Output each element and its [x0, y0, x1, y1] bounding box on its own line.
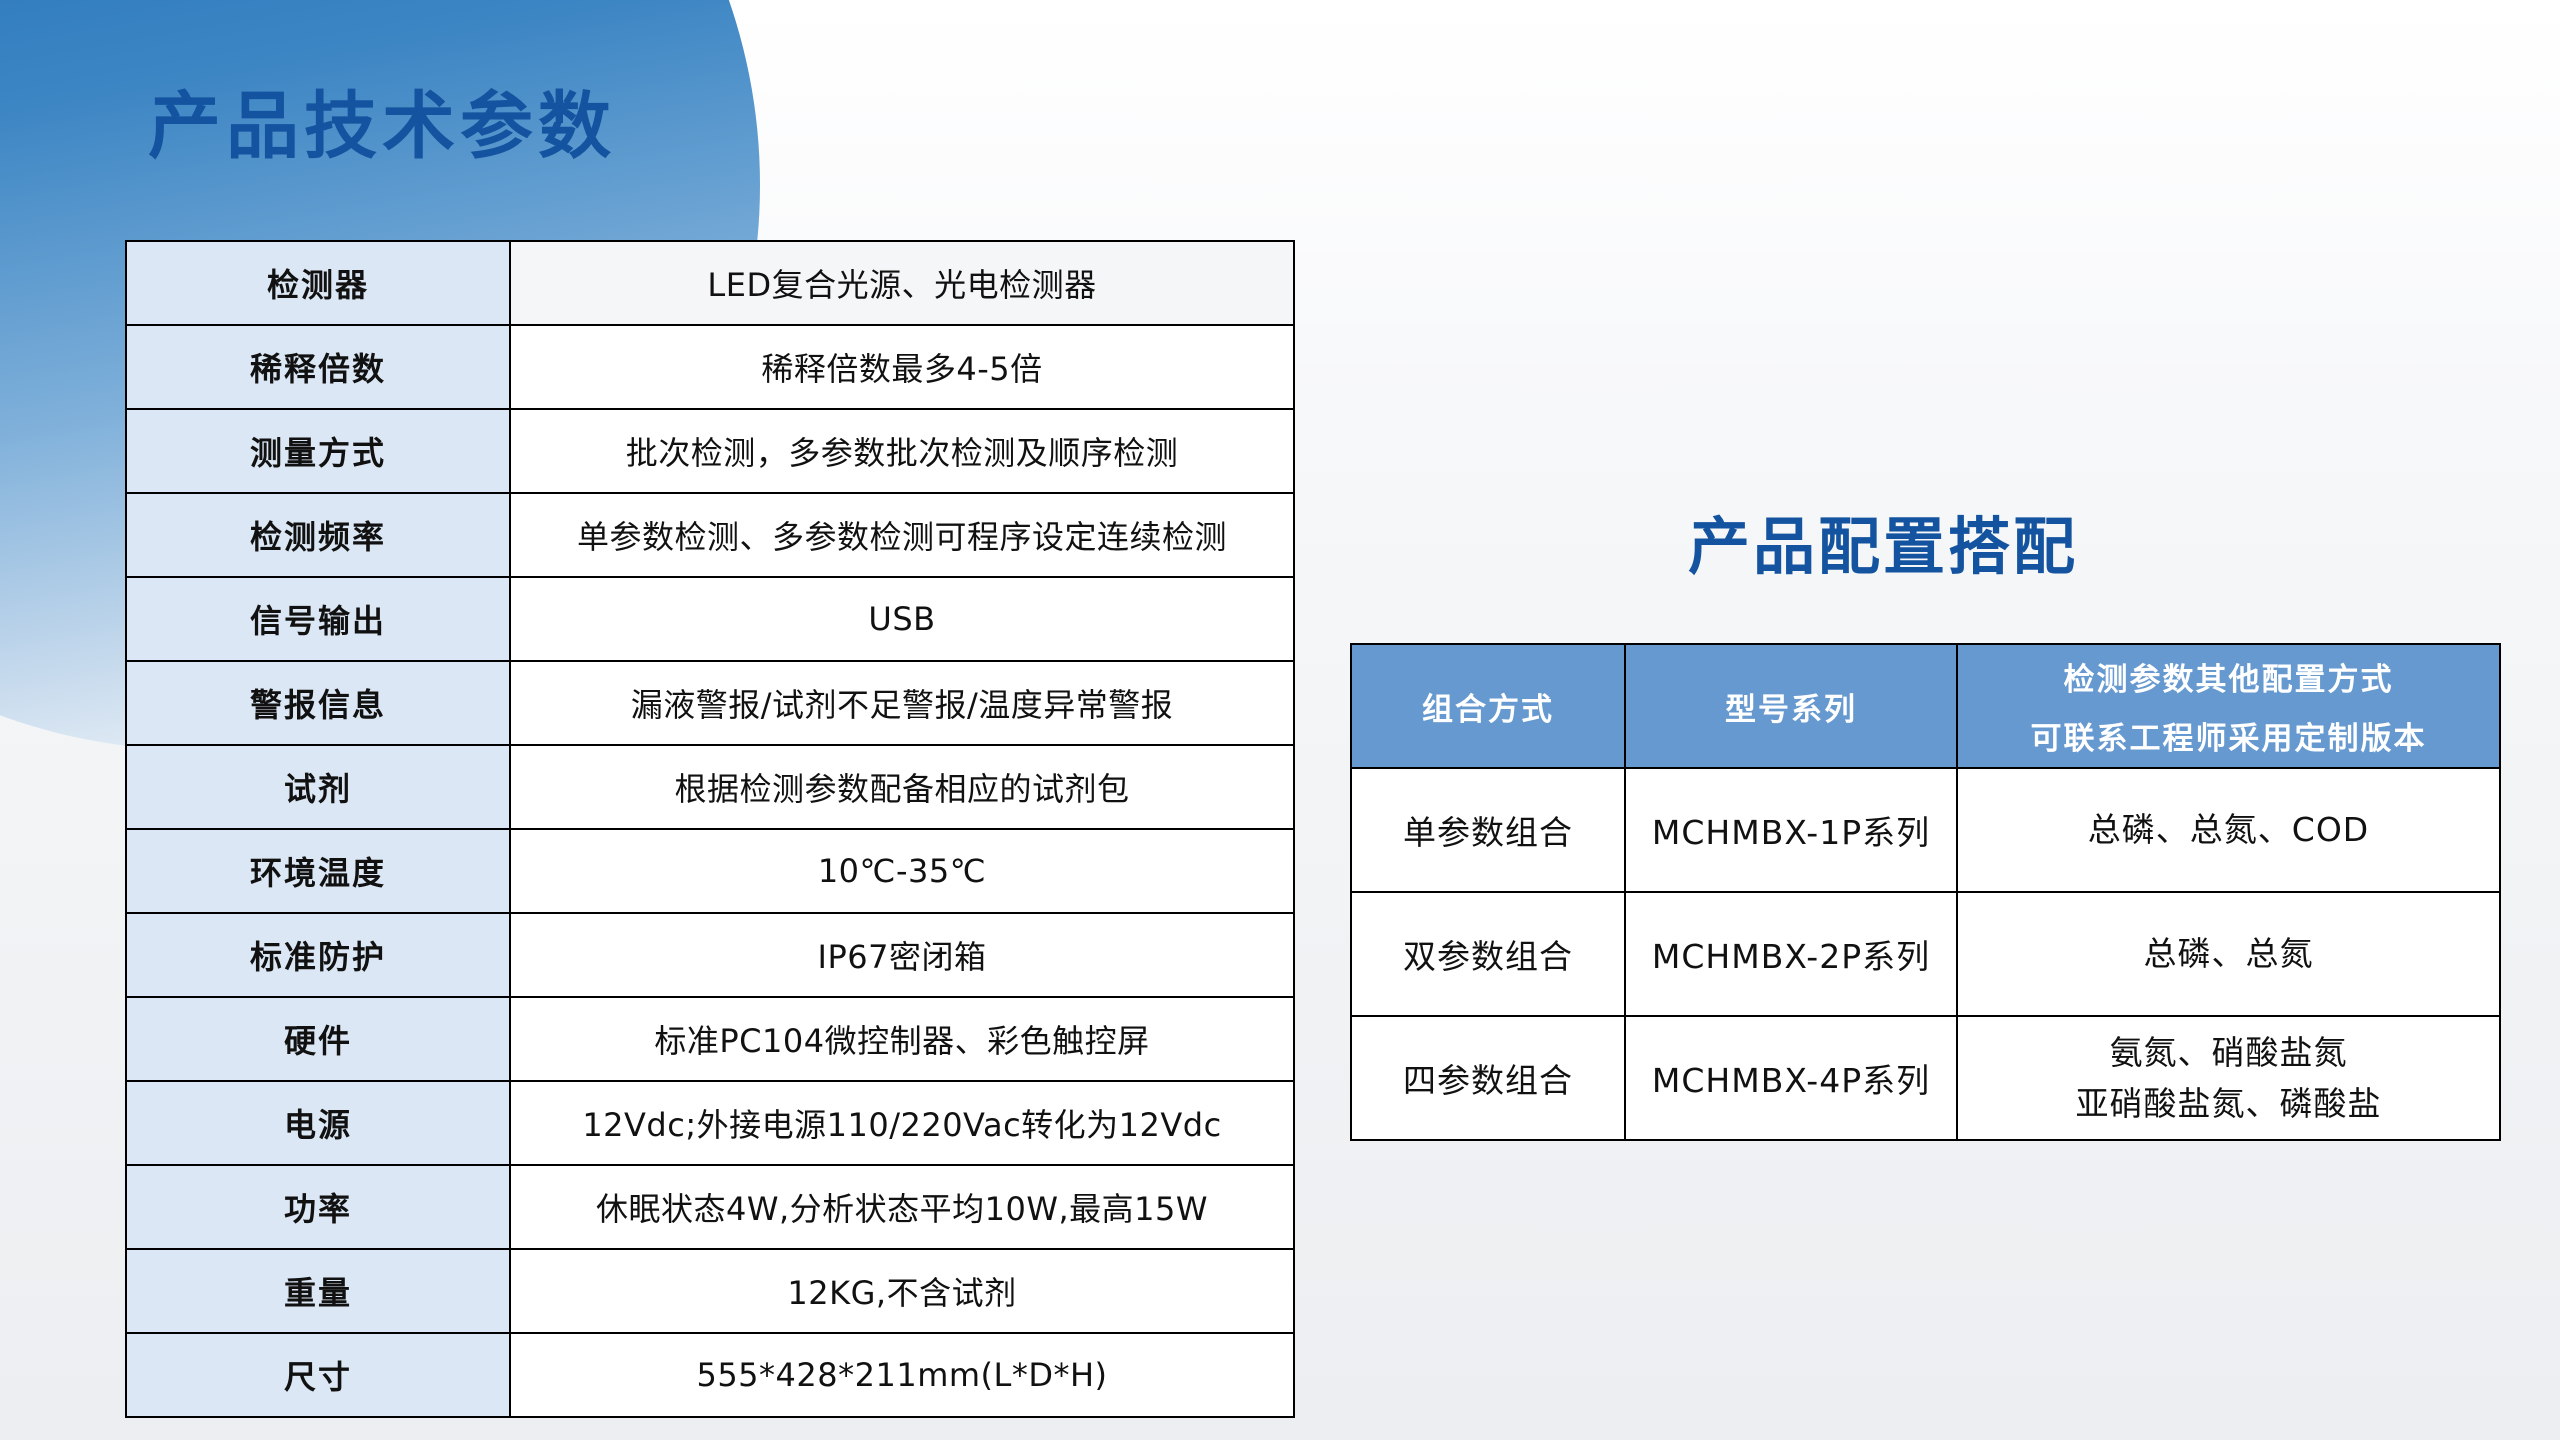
spec-value: 批次检测，多参数批次检测及顺序检测: [510, 409, 1294, 493]
product-configuration-table: 组合方式 型号系列 检测参数其他配置方式 可联系工程师采用定制版本 单参数组合 …: [1350, 643, 2501, 1141]
spec-key: 尺寸: [126, 1333, 510, 1417]
config-params: 总磷、总氮: [1957, 892, 2500, 1016]
table-row: 检测频率 单参数检测、多参数检测可程序设定连续检测: [126, 493, 1294, 577]
table-row: 功率 休眠状态4W,分析状态平均10W,最高15W: [126, 1165, 1294, 1249]
page-title-technical-parameters: 产品技术参数: [148, 90, 616, 163]
config-header-other-params: 检测参数其他配置方式 可联系工程师采用定制版本: [1957, 644, 2500, 768]
config-header-other-params-line2: 可联系工程师采用定制版本: [1958, 713, 2499, 758]
spec-value: 标准PC104微控制器、彩色触控屏: [510, 997, 1294, 1081]
config-params: 总磷、总氮、COD: [1957, 768, 2500, 892]
spec-value: 休眠状态4W,分析状态平均10W,最高15W: [510, 1165, 1294, 1249]
table-row: 信号输出 USB: [126, 577, 1294, 661]
config-model: MCHMBX-4P系列: [1625, 1016, 1957, 1140]
spec-key: 硬件: [126, 997, 510, 1081]
table-row: 硬件 标准PC104微控制器、彩色触控屏: [126, 997, 1294, 1081]
table-row: 重量 12KG,不含试剂: [126, 1249, 1294, 1333]
table-row: 双参数组合 MCHMBX-2P系列 总磷、总氮: [1351, 892, 2500, 1016]
spec-value: 12Vdc;外接电源110/220Vac转化为12Vdc: [510, 1081, 1294, 1165]
spec-key: 试剂: [126, 745, 510, 829]
spec-key: 标准防护: [126, 913, 510, 997]
config-model: MCHMBX-2P系列: [1625, 892, 1957, 1016]
config-params: 氨氮、硝酸盐氮 亚硝酸盐氮、磷酸盐: [1957, 1016, 2500, 1140]
spec-value: IP67密闭箱: [510, 913, 1294, 997]
table-row: 警报信息 漏液警报/试剂不足警报/温度异常警报: [126, 661, 1294, 745]
config-header-other-params-line1: 检测参数其他配置方式: [1958, 654, 2499, 699]
config-combination: 单参数组合: [1351, 768, 1625, 892]
spec-value: LED复合光源、光电检测器: [510, 241, 1294, 325]
table-row: 稀释倍数 稀释倍数最多4-5倍: [126, 325, 1294, 409]
spec-key: 电源: [126, 1081, 510, 1165]
table-row: 环境温度 10℃-35℃: [126, 829, 1294, 913]
config-combination: 四参数组合: [1351, 1016, 1625, 1140]
technical-parameters-table: 检测器 LED复合光源、光电检测器 稀释倍数 稀释倍数最多4-5倍 测量方式 批…: [125, 240, 1295, 1418]
spec-key: 测量方式: [126, 409, 510, 493]
table-row: 电源 12Vdc;外接电源110/220Vac转化为12Vdc: [126, 1081, 1294, 1165]
spec-value: 稀释倍数最多4-5倍: [510, 325, 1294, 409]
config-params-line1: 总磷、总氮、COD: [1959, 804, 2498, 855]
spec-value: 漏液警报/试剂不足警报/温度异常警报: [510, 661, 1294, 745]
config-header-model: 型号系列: [1625, 644, 1957, 768]
config-params-line2: 亚硝酸盐氮、磷酸盐: [1959, 1078, 2498, 1129]
spec-key: 重量: [126, 1249, 510, 1333]
spec-key: 信号输出: [126, 577, 510, 661]
spec-key: 检测器: [126, 241, 510, 325]
table-row: 四参数组合 MCHMBX-4P系列 氨氮、硝酸盐氮 亚硝酸盐氮、磷酸盐: [1351, 1016, 2500, 1140]
config-params-line1: 总磷、总氮: [1959, 928, 2498, 979]
spec-key: 警报信息: [126, 661, 510, 745]
spec-value: 单参数检测、多参数检测可程序设定连续检测: [510, 493, 1294, 577]
table-header-row: 组合方式 型号系列 检测参数其他配置方式 可联系工程师采用定制版本: [1351, 644, 2500, 768]
section-title-product-configuration: 产品配置搭配: [1688, 516, 2078, 578]
spec-key: 环境温度: [126, 829, 510, 913]
slide-canvas: 产品技术参数 产品配置搭配 检测器 LED复合光源、光电检测器 稀释倍数 稀释倍…: [0, 0, 2560, 1440]
spec-value: 根据检测参数配备相应的试剂包: [510, 745, 1294, 829]
table-row: 试剂 根据检测参数配备相应的试剂包: [126, 745, 1294, 829]
spec-key: 检测频率: [126, 493, 510, 577]
config-header-combination: 组合方式: [1351, 644, 1625, 768]
config-params-line1: 氨氮、硝酸盐氮: [1959, 1027, 2498, 1078]
table-row: 标准防护 IP67密闭箱: [126, 913, 1294, 997]
spec-key: 功率: [126, 1165, 510, 1249]
spec-key: 稀释倍数: [126, 325, 510, 409]
spec-value: 10℃-35℃: [510, 829, 1294, 913]
spec-value: 12KG,不含试剂: [510, 1249, 1294, 1333]
table-row: 测量方式 批次检测，多参数批次检测及顺序检测: [126, 409, 1294, 493]
table-row: 尺寸 555*428*211mm(L*D*H): [126, 1333, 1294, 1417]
spec-value: 555*428*211mm(L*D*H): [510, 1333, 1294, 1417]
table-row: 检测器 LED复合光源、光电检测器: [126, 241, 1294, 325]
config-model: MCHMBX-1P系列: [1625, 768, 1957, 892]
table-row: 单参数组合 MCHMBX-1P系列 总磷、总氮、COD: [1351, 768, 2500, 892]
spec-value: USB: [510, 577, 1294, 661]
config-combination: 双参数组合: [1351, 892, 1625, 1016]
